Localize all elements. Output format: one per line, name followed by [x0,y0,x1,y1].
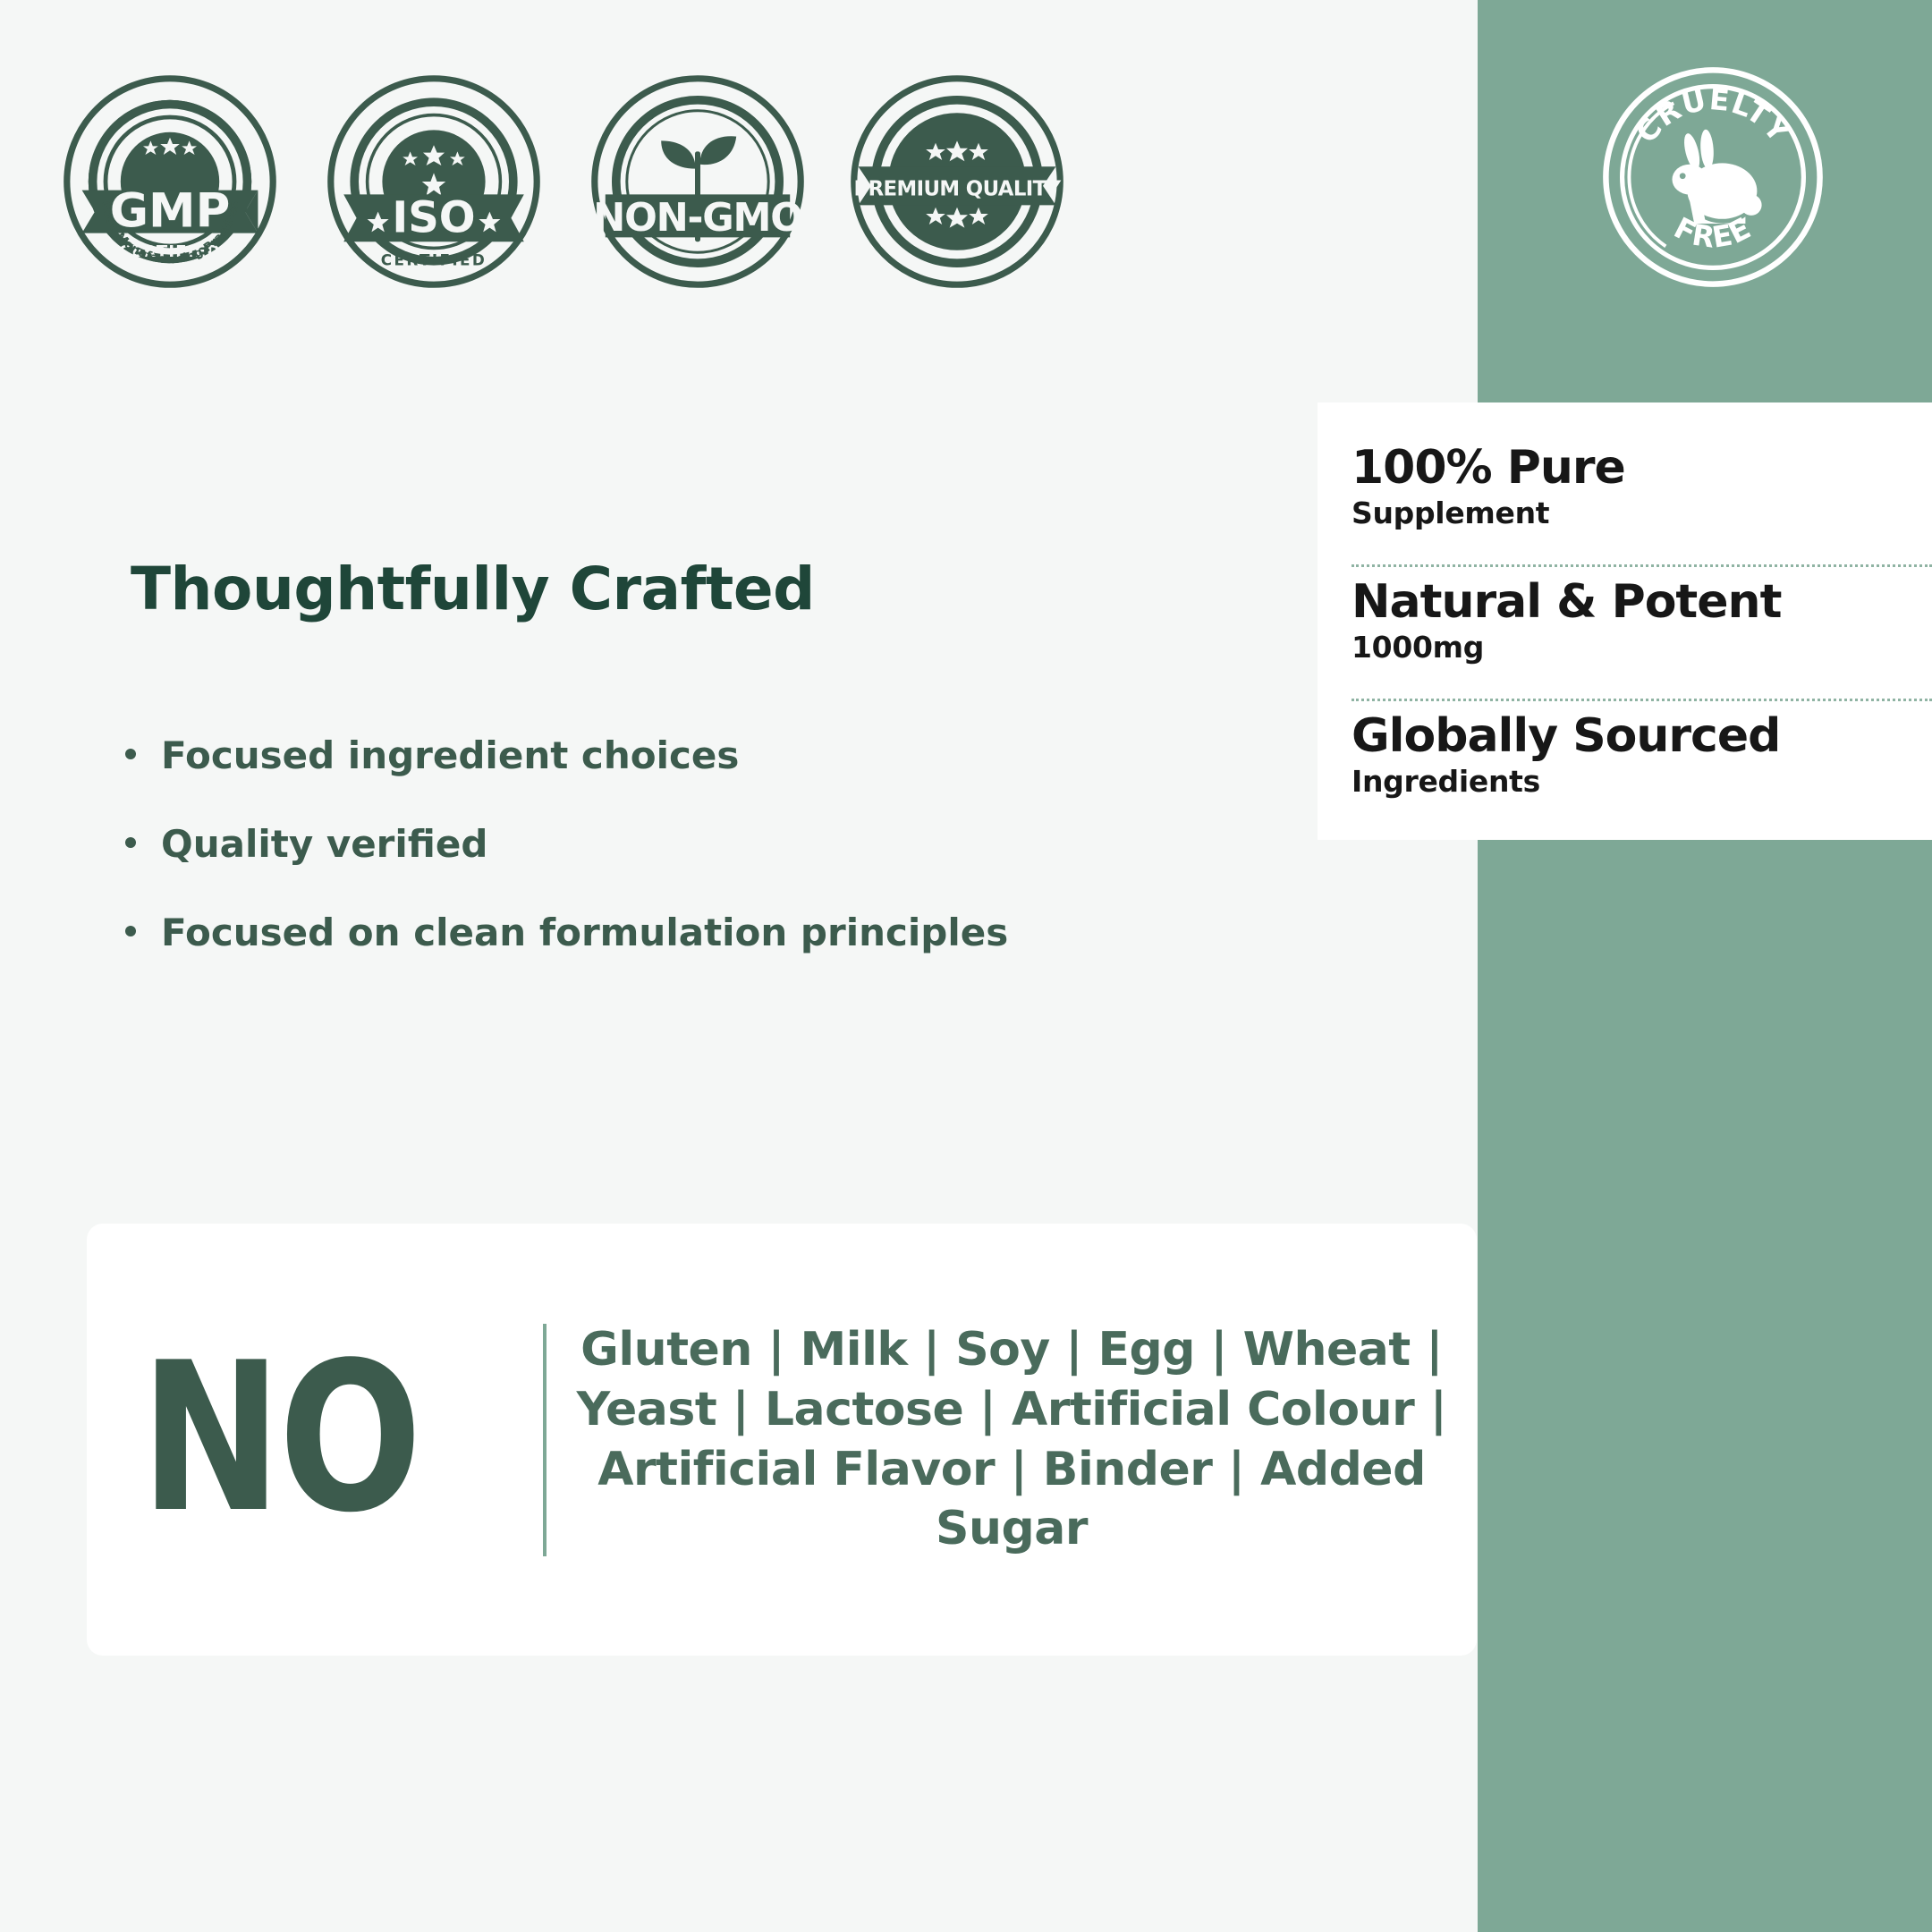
svg-text:CERTIFIED: CERTIFIED [381,251,487,269]
bullet-dot-icon [125,837,136,848]
gmp-certified-badge: GMP CERTIFIED Good Manufacturing Practic… [63,74,277,289]
cruelty-free-badge: CRUELTY FREE [1597,61,1829,293]
highlight-title: Globally Sourced [1352,712,1932,760]
list-item-label: Focused on clean formulation principles [161,911,1008,954]
list-item: Focused on clean formulation principles [125,911,1288,954]
highlight-title: 100% Pure [1352,444,1932,492]
no-label: NO [140,1355,419,1524]
free-from-card: NO Gluten | Milk | Soy | Egg | Wheat | Y… [87,1224,1477,1656]
non-gmo-badge: NON-GMO [590,74,805,289]
free-from-list: Gluten | Milk | Soy | Egg | Wheat | Yeas… [547,1320,1477,1558]
svg-text:PREMIUM QUALITY: PREMIUM QUALITY [853,178,1061,201]
highlight-subtitle: 1000mg [1352,630,1932,665]
list-item-label: Quality verified [161,822,487,866]
bullet-dot-icon [125,749,136,759]
highlight-title: Natural & Potent [1352,578,1932,626]
certification-badge-row: GMP CERTIFIED Good Manufacturing Practic… [0,70,1932,293]
page-title: Thoughtfully Crafted [131,555,815,623]
list-item: Quality verified [125,822,1288,866]
product-highlights-card: 100% Pure Supplement Natural & Potent 10… [1318,402,1932,840]
highlight-item-pure: 100% Pure Supplement [1352,433,1932,545]
premium-quality-badge: PREMIUM QUALITY [850,74,1064,289]
svg-text:GMP: GMP [110,183,231,238]
highlight-item-potency: Natural & Potent 1000mg [1352,567,1932,679]
highlight-subtitle: Supplement [1352,496,1932,530]
rabbit-icon [1673,129,1762,224]
list-item-label: Focused ingredient choices [161,733,739,777]
highlight-item-sourcing: Globally Sourced Ingredients [1352,701,1932,813]
iso-certified-badge: ISO CERTIFIED [326,74,541,289]
benefit-list: Focused ingredient choices Quality verif… [125,733,1288,999]
highlight-subtitle: Ingredients [1352,764,1932,799]
svg-text:NON-GMO: NON-GMO [593,196,802,241]
bullet-dot-icon [125,926,136,936]
list-item: Focused ingredient choices [125,733,1288,777]
svg-text:ISO: ISO [392,192,475,242]
